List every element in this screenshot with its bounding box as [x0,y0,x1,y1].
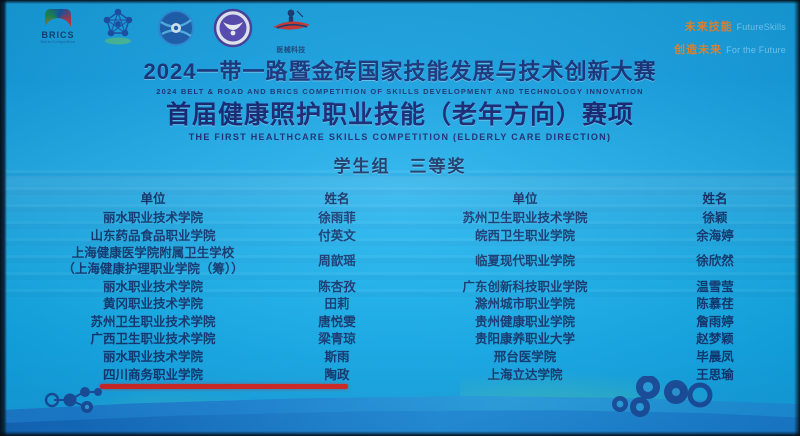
screen-vignette [0,0,800,436]
presentation-slide: BRICS Skills Competition [0,0,800,436]
